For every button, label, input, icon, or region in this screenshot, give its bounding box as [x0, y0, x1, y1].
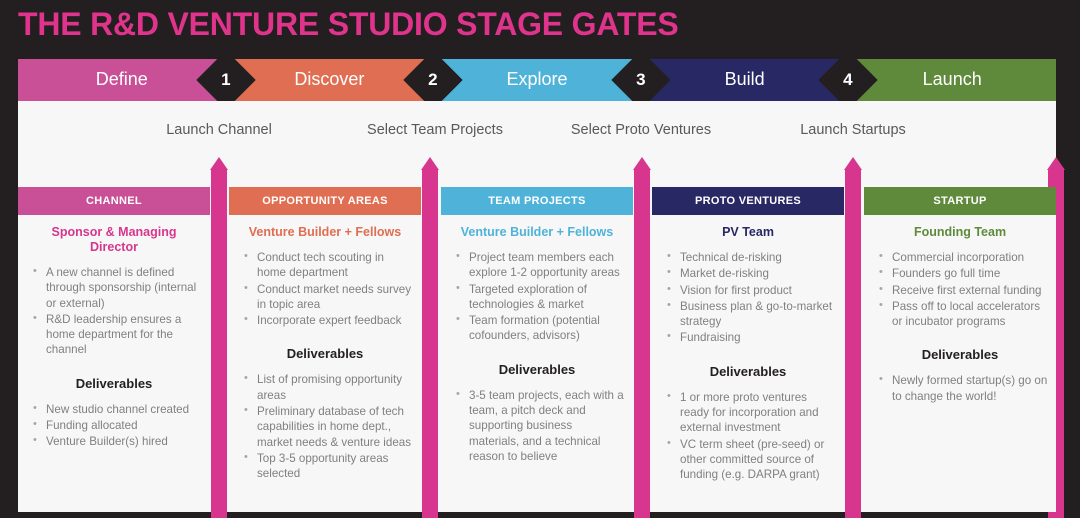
- list-item: Market de-risking: [664, 266, 836, 281]
- arrow-shaft: [211, 169, 227, 518]
- deliverables-heading: Deliverables: [660, 364, 836, 379]
- stage-segment-discover[interactable]: Discover: [226, 59, 434, 101]
- list-item: Funding allocated: [30, 418, 202, 433]
- activity-list: Commercial incorporationFounders go full…: [876, 250, 1048, 329]
- deliverables-heading: Deliverables: [449, 362, 625, 377]
- stage-segment-label: Discover: [294, 69, 364, 90]
- activity-list: Project team members each explore 1-2 op…: [453, 250, 625, 344]
- deliverables-heading: Deliverables: [26, 376, 202, 391]
- list-item: R&D leadership ensures a home department…: [30, 312, 202, 358]
- list-item: 1 or more proto ventures ready for incor…: [664, 390, 836, 436]
- list-item: Fundraising: [664, 330, 836, 345]
- list-item: Commercial incorporation: [876, 250, 1048, 265]
- stage-card-proto-ventures: PROTO VENTURESPV TeamTechnical de-riskin…: [652, 187, 844, 512]
- list-item: Preliminary database of tech capabilitie…: [241, 404, 413, 450]
- card-role: Founding Team: [872, 225, 1048, 240]
- list-item: Project team members each explore 1-2 op…: [453, 250, 625, 281]
- gate-number: 1: [221, 70, 230, 90]
- gate-arrow-3: [633, 157, 651, 518]
- gate-label-1: Launch Channel: [109, 122, 329, 138]
- gate-number: 3: [636, 70, 645, 90]
- stage-card-team-projects: TEAM PROJECTSVenture Builder + FellowsPr…: [441, 187, 633, 512]
- list-item: VC term sheet (pre-seed) or other commit…: [664, 437, 836, 483]
- list-item: Pass off to local accelerators or incuba…: [876, 299, 1048, 330]
- list-item: Venture Builder(s) hired: [30, 434, 202, 449]
- card-role: Venture Builder + Fellows: [237, 225, 413, 240]
- card-role: PV Team: [660, 225, 836, 240]
- deliverables-list: 3-5 team projects, each with a team, a p…: [453, 388, 625, 464]
- stage-segment-explore[interactable]: Explore: [433, 59, 641, 101]
- card-body: PV TeamTechnical de-riskingMarket de-ris…: [652, 215, 844, 512]
- deliverables-heading: Deliverables: [237, 346, 413, 361]
- gate-label-2: Select Team Projects: [325, 122, 545, 138]
- list-item: Incorporate expert feedback: [241, 313, 413, 328]
- arrow-shaft: [845, 169, 861, 518]
- stage-segment-define[interactable]: Define: [18, 59, 226, 101]
- stage-segment-label: Explore: [506, 69, 567, 90]
- activity-list: Conduct tech scouting in home department…: [241, 250, 413, 328]
- deliverables-list: List of promising opportunity areasPreli…: [241, 372, 413, 481]
- card-body: Venture Builder + FellowsProject team me…: [441, 215, 633, 512]
- list-item: A new channel is defined through sponsor…: [30, 265, 202, 311]
- card-header: OPPORTUNITY AREAS: [229, 187, 421, 215]
- list-item: Newly formed startup(s) go on to change …: [876, 373, 1048, 404]
- list-item: New studio channel created: [30, 402, 202, 417]
- page-title: THE R&D VENTURE STUDIO STAGE GATES: [18, 6, 679, 43]
- card-header: CHANNEL: [18, 187, 210, 215]
- stage-segment-build[interactable]: Build: [641, 59, 849, 101]
- card-role: Sponsor & Managing Director: [26, 225, 202, 255]
- gate-label-3: Select Proto Ventures: [531, 122, 751, 138]
- list-item: Vision for first product: [664, 283, 836, 298]
- list-item: Team formation (potential cofounders, ad…: [453, 313, 625, 344]
- list-item: Business plan & go-to-market strategy: [664, 299, 836, 330]
- stage-segment-label: Build: [725, 69, 765, 90]
- deliverables-heading: Deliverables: [872, 347, 1048, 362]
- card-role: Venture Builder + Fellows: [449, 225, 625, 240]
- list-item: Receive first external funding: [876, 283, 1048, 298]
- activity-list: Technical de-riskingMarket de-riskingVis…: [664, 250, 836, 346]
- card-body: Sponsor & Managing DirectorA new channel…: [18, 215, 210, 512]
- gate-arrow-4: [844, 157, 862, 518]
- stage-segment-label: Launch: [923, 69, 982, 90]
- stage-segment-launch[interactable]: Launch: [848, 59, 1056, 101]
- card-body: Founding TeamCommercial incorporationFou…: [864, 215, 1056, 512]
- list-item: Conduct market needs survey in topic are…: [241, 282, 413, 313]
- list-item: Founders go full time: [876, 266, 1048, 281]
- stage-card-channel: CHANNELSponsor & Managing DirectorA new …: [18, 187, 210, 512]
- stage-segment-label: Define: [96, 69, 148, 90]
- deliverables-list: New studio channel createdFunding alloca…: [30, 402, 202, 450]
- list-item: List of promising opportunity areas: [241, 372, 413, 403]
- activity-list: A new channel is defined through sponsor…: [30, 265, 202, 358]
- gate-number: 4: [844, 70, 853, 90]
- infographic-root: THE R&D VENTURE STUDIO STAGE GATES Defin…: [0, 0, 1080, 518]
- list-item: Conduct tech scouting in home department: [241, 250, 413, 281]
- card-body: Venture Builder + FellowsConduct tech sc…: [229, 215, 421, 512]
- card-header: PROTO VENTURES: [652, 187, 844, 215]
- deliverables-list: 1 or more proto ventures ready for incor…: [664, 390, 836, 483]
- arrow-shaft: [634, 169, 650, 518]
- stage-bar: DefineDiscoverExploreBuildLaunch1234: [18, 59, 1056, 101]
- list-item: Top 3-5 opportunity areas selected: [241, 451, 413, 482]
- gate-number: 2: [428, 70, 437, 90]
- card-header: TEAM PROJECTS: [441, 187, 633, 215]
- gate-arrow-2: [421, 157, 439, 518]
- list-item: Technical de-risking: [664, 250, 836, 265]
- list-item: 3-5 team projects, each with a team, a p…: [453, 388, 625, 464]
- deliverables-list: Newly formed startup(s) go on to change …: [876, 373, 1048, 404]
- gate-arrow-1: [210, 157, 228, 518]
- gate-label-4: Launch Startups: [743, 122, 963, 138]
- card-header: STARTUP: [864, 187, 1056, 215]
- stage-card-startup: STARTUPFounding TeamCommercial incorpora…: [864, 187, 1056, 512]
- stage-card-opportunity-areas: OPPORTUNITY AREASVenture Builder + Fello…: [229, 187, 421, 512]
- list-item: Targeted exploration of technologies & m…: [453, 282, 625, 313]
- arrow-shaft: [422, 169, 438, 518]
